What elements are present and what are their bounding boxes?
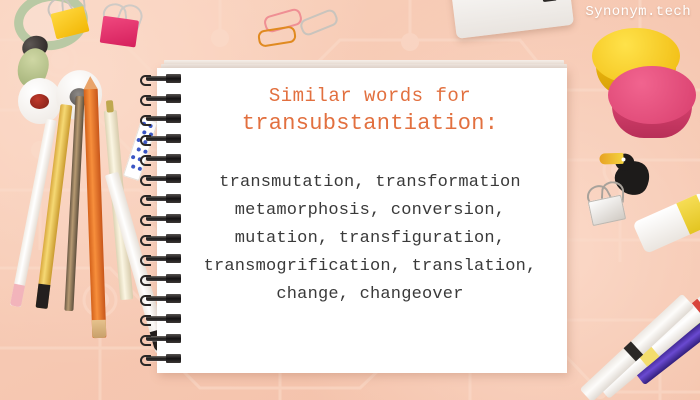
synonym-line: mutation, transfiguration, xyxy=(190,225,550,253)
synonym-line: metamorphosis, conversion, xyxy=(190,197,550,225)
spiral-binding xyxy=(146,72,190,372)
camera-button-icon xyxy=(541,0,557,2)
notepad-content: Similar words for transubstantiation: tr… xyxy=(190,84,550,309)
synonym-line: transmutation, transformation xyxy=(190,169,550,197)
synonym-line: change, changeover xyxy=(190,281,550,309)
synonym-line: transmogrification, translation, xyxy=(190,253,550,281)
binder-clip-silver xyxy=(583,186,629,226)
page-title-line-2: transubstantiation: xyxy=(190,109,550,139)
binder-clip-pink xyxy=(96,7,142,47)
page-title-line-1: Similar words for xyxy=(190,84,550,109)
site-watermark: Synonym.tech xyxy=(585,4,691,20)
macaron-pink xyxy=(606,66,698,144)
desk-scene: Synonym.tech xyxy=(0,0,700,400)
synonym-list: transmutation, transformation metamorpho… xyxy=(190,169,550,309)
